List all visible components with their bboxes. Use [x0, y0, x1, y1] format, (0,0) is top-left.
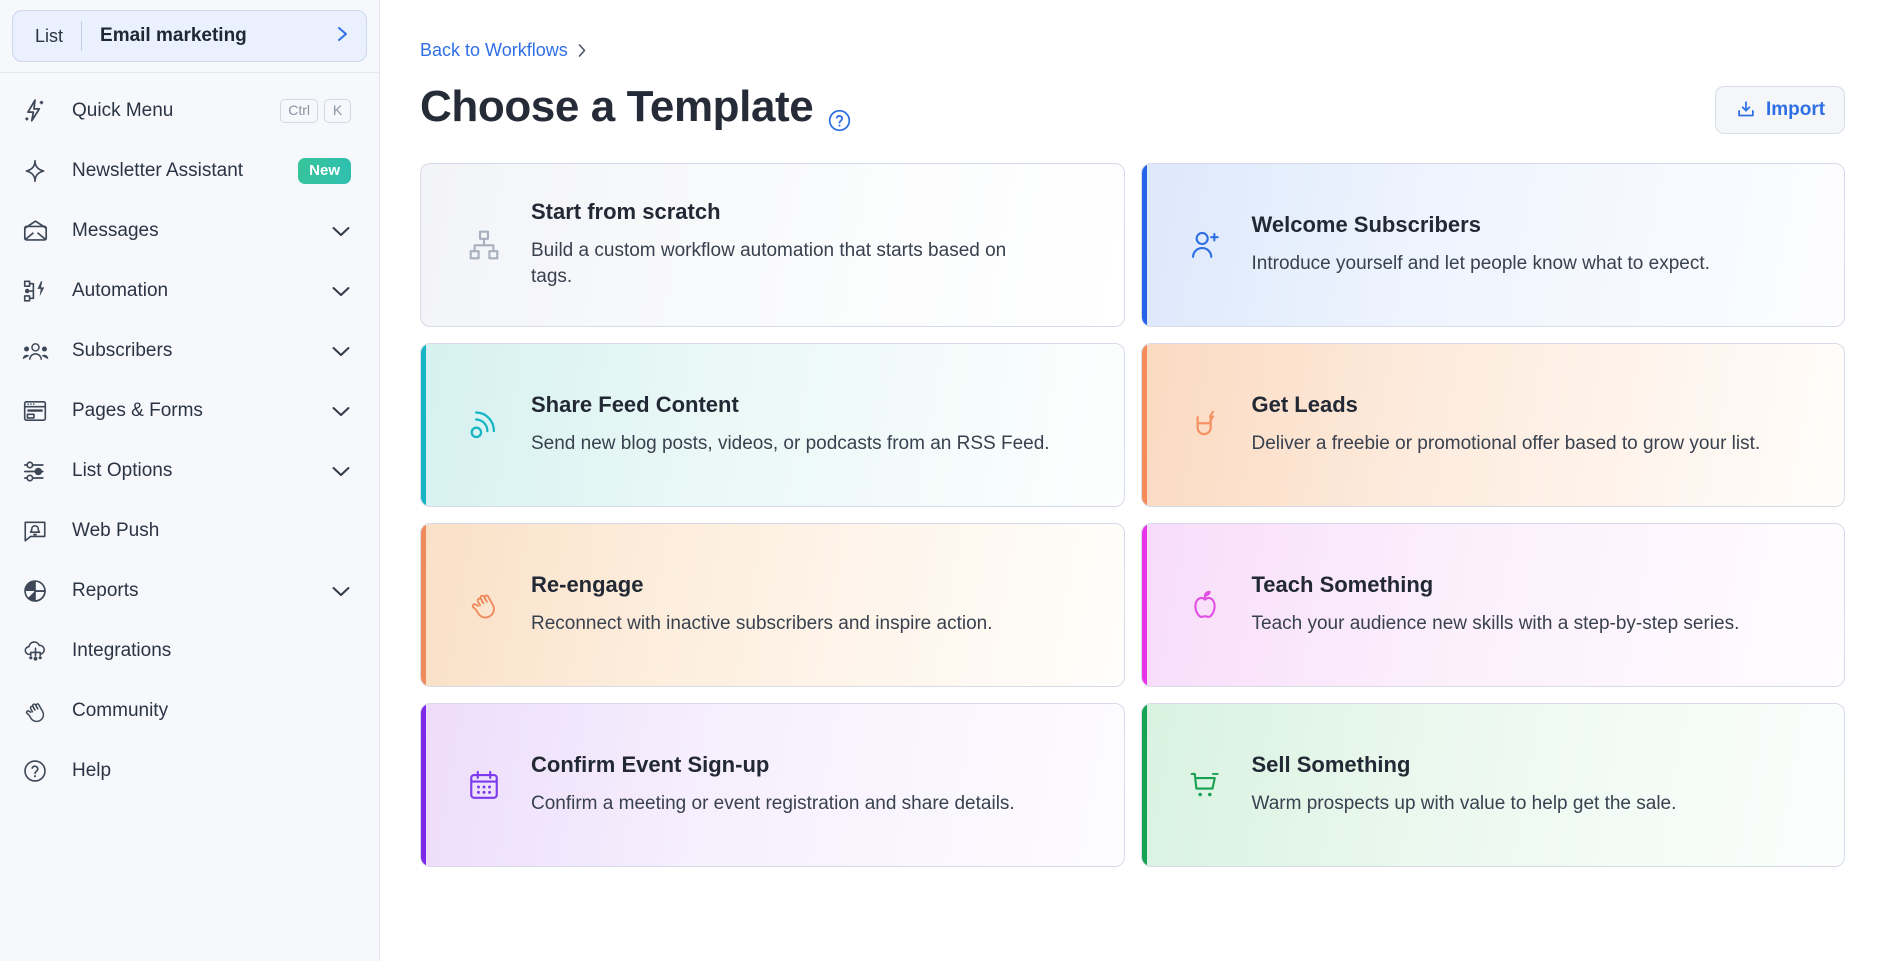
pie-chart-icon [22, 578, 72, 604]
magnet-icon [1172, 408, 1238, 442]
web-push-icon [22, 518, 72, 544]
import-button[interactable]: Import [1715, 86, 1845, 134]
waving-hand-icon [451, 588, 517, 622]
template-card-start-from-scratch[interactable]: Start from scratch Build a custom workfl… [420, 163, 1125, 327]
template-card-teach-something[interactable]: Teach Something Teach your audience new … [1141, 523, 1846, 687]
chevron-right-icon [577, 43, 588, 58]
download-tray-icon [1735, 99, 1757, 121]
card-title: Confirm Event Sign-up [531, 753, 1015, 777]
question-circle-icon [22, 758, 72, 784]
template-card-confirm-event-sign-up[interactable]: Confirm Event Sign-up Confirm a meeting … [420, 703, 1125, 867]
sidebar-item-messages[interactable]: Messages [0, 201, 379, 261]
pages-forms-icon [22, 398, 72, 424]
card-title: Sell Something [1252, 753, 1677, 777]
sidebar-item-list-options[interactable]: List Options [0, 441, 379, 501]
card-accent-bar [421, 164, 426, 326]
apple-icon [1172, 588, 1238, 622]
sidebar-item-automation[interactable]: Automation [0, 261, 379, 321]
sitemap-icon [451, 228, 517, 262]
card-description: Deliver a freebie or promotional offer b… [1252, 431, 1761, 457]
chevron-right-icon [336, 25, 350, 47]
chevron-down-icon[interactable] [331, 345, 351, 358]
card-title: Re-engage [531, 573, 993, 597]
card-accent-bar [421, 704, 426, 866]
page-title-row: Choose a Template [420, 77, 1845, 137]
sidebar-item-label: Pages & Forms [72, 400, 331, 422]
sidebar-nav: Quick Menu Ctrl K Newsletter Assistant N… [0, 73, 379, 801]
card-title: Get Leads [1252, 393, 1761, 417]
card-title: Start from scratch [531, 200, 1051, 224]
subscribers-icon [22, 338, 72, 365]
chevron-down-icon[interactable] [331, 465, 351, 478]
sidebar-item-quick-menu[interactable]: Quick Menu Ctrl K [0, 81, 379, 141]
sidebar-item-label: Community [72, 700, 351, 722]
card-body: Re-engage Reconnect with inactive subscr… [517, 573, 1001, 637]
card-body: Sell Something Warm prospects up with va… [1238, 753, 1685, 817]
template-card-share-feed-content[interactable]: Share Feed Content Send new blog posts, … [420, 343, 1125, 507]
card-title: Welcome Subscribers [1252, 213, 1710, 237]
chevron-down-icon[interactable] [331, 285, 351, 298]
chevron-down-icon[interactable] [331, 585, 351, 598]
card-body: Teach Something Teach your audience new … [1238, 573, 1748, 637]
breadcrumb: Back to Workflows [420, 0, 1845, 61]
sidebar: List Email marketing Quick Menu Ctrl [0, 0, 380, 961]
sidebar-item-label: Subscribers [72, 340, 331, 362]
quick-menu-icon [22, 98, 72, 124]
card-description: Reconnect with inactive subscribers and … [531, 611, 993, 637]
question-circle-icon[interactable] [827, 108, 852, 137]
card-accent-bar [421, 344, 426, 506]
shopping-cart-icon [1172, 768, 1238, 802]
card-body: Get Leads Deliver a freebie or promotion… [1238, 393, 1769, 457]
card-accent-bar [1142, 524, 1147, 686]
card-body: Confirm Event Sign-up Confirm a meeting … [517, 753, 1023, 817]
sliders-icon [22, 458, 72, 485]
sidebar-item-label: List Options [72, 460, 331, 482]
sidebar-item-help[interactable]: Help [0, 741, 379, 801]
sidebar-item-pages-forms[interactable]: Pages & Forms [0, 381, 379, 441]
card-body: Start from scratch Build a custom workfl… [517, 200, 1059, 291]
kbd-k: K [324, 99, 351, 122]
cloud-network-icon [22, 638, 72, 665]
kbd-ctrl: Ctrl [280, 99, 318, 122]
sidebar-item-newsletter-assistant[interactable]: Newsletter Assistant New [0, 141, 379, 201]
template-grid: Start from scratch Build a custom workfl… [420, 163, 1845, 867]
card-accent-bar [421, 524, 426, 686]
card-body: Welcome Subscribers Introduce yourself a… [1238, 213, 1718, 277]
rss-icon [451, 408, 517, 442]
sparkle-icon [22, 158, 72, 184]
card-description: Introduce yourself and let people know w… [1252, 251, 1710, 277]
sidebar-item-label: Messages [72, 220, 331, 242]
template-card-get-leads[interactable]: Get Leads Deliver a freebie or promotion… [1141, 343, 1846, 507]
card-accent-bar [1142, 164, 1147, 326]
template-card-sell-something[interactable]: Sell Something Warm prospects up with va… [1141, 703, 1846, 867]
list-switcher-label: List [13, 27, 81, 45]
sidebar-item-label: Reports [72, 580, 331, 602]
card-description: Teach your audience new skills with a st… [1252, 611, 1740, 637]
card-body: Share Feed Content Send new blog posts, … [517, 393, 1058, 457]
chevron-down-icon[interactable] [331, 405, 351, 418]
sidebar-item-web-push[interactable]: Web Push [0, 501, 379, 561]
sidebar-item-label: Newsletter Assistant [72, 160, 298, 182]
list-switcher[interactable]: List Email marketing [12, 10, 367, 62]
card-title: Share Feed Content [531, 393, 1050, 417]
card-title: Teach Something [1252, 573, 1740, 597]
envelope-icon [22, 218, 72, 245]
list-switcher-value: Email marketing [82, 25, 336, 47]
automation-icon [22, 278, 72, 304]
quick-menu-shortcut: Ctrl K [280, 99, 351, 122]
sidebar-item-label: Integrations [72, 640, 351, 662]
card-accent-bar [1142, 344, 1147, 506]
import-button-label: Import [1766, 99, 1825, 121]
sidebar-item-integrations[interactable]: Integrations [0, 621, 379, 681]
card-description: Build a custom workflow automation that … [531, 238, 1051, 290]
chevron-down-icon[interactable] [331, 225, 351, 238]
card-description: Confirm a meeting or event registration … [531, 791, 1015, 817]
sidebar-item-subscribers[interactable]: Subscribers [0, 321, 379, 381]
app-root: List Email marketing Quick Menu Ctrl [0, 0, 1891, 961]
card-description: Send new blog posts, videos, or podcasts… [531, 431, 1050, 457]
template-card-re-engage[interactable]: Re-engage Reconnect with inactive subscr… [420, 523, 1125, 687]
card-accent-bar [1142, 704, 1147, 866]
sidebar-item-community[interactable]: Community [0, 681, 379, 741]
main-content: Back to Workflows Choose a Template [380, 0, 1891, 961]
template-card-welcome-subscribers[interactable]: Welcome Subscribers Introduce yourself a… [1141, 163, 1846, 327]
sidebar-item-label: Quick Menu [72, 100, 280, 122]
waving-hand-icon [22, 698, 72, 725]
sidebar-item-label: Help [72, 760, 351, 782]
back-to-workflows-link[interactable]: Back to Workflows [420, 40, 568, 61]
status-badge-new: New [298, 158, 351, 185]
calendar-icon [451, 768, 517, 802]
sidebar-item-label: Automation [72, 280, 331, 302]
sidebar-item-label: Web Push [72, 520, 351, 542]
user-plus-icon [1172, 228, 1238, 262]
page-title: Choose a Template [420, 85, 813, 129]
sidebar-item-reports[interactable]: Reports [0, 561, 379, 621]
card-description: Warm prospects up with value to help get… [1252, 791, 1677, 817]
